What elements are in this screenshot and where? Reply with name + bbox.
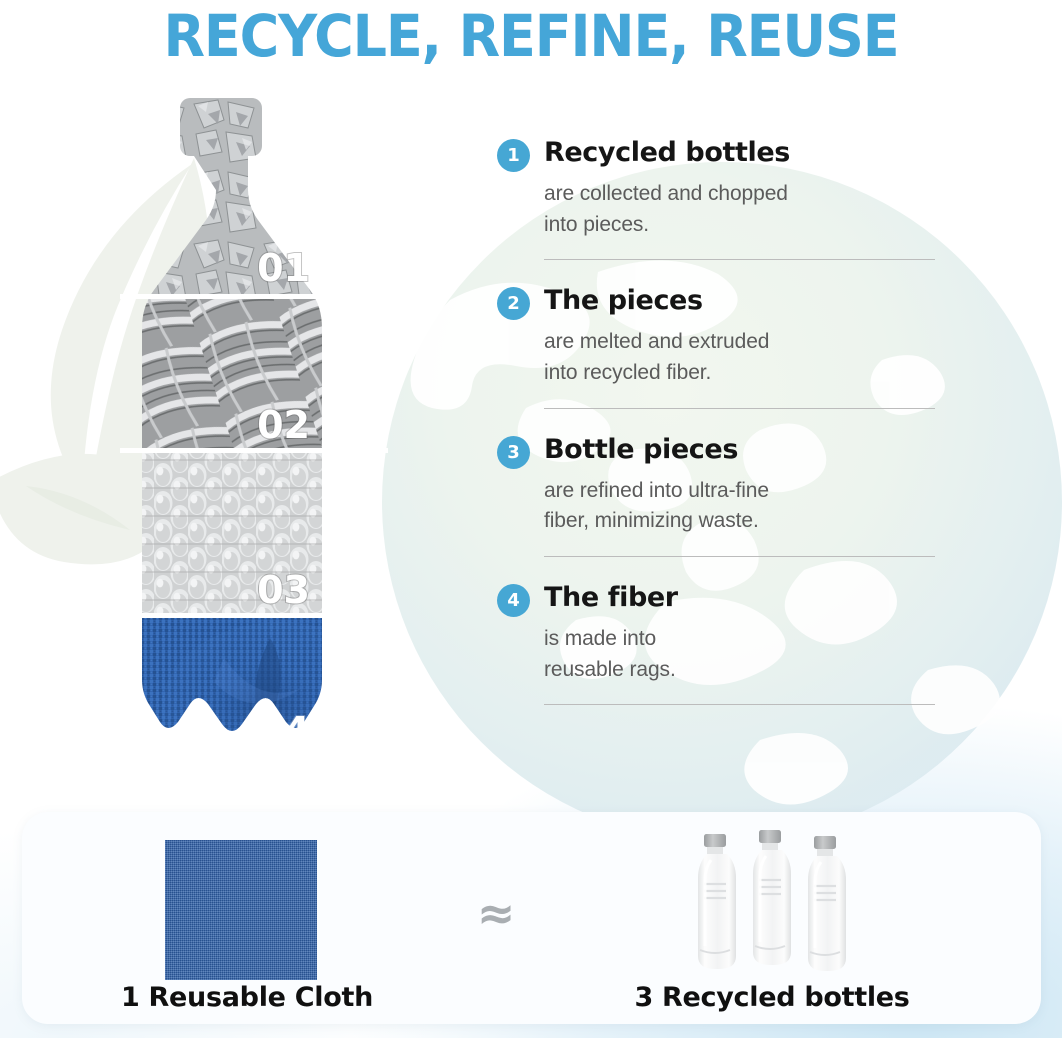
step-title-2: The pieces xyxy=(544,284,703,318)
step-divider-3 xyxy=(544,556,935,557)
step-item-1: 1 Recycled bottles are collected and cho… xyxy=(497,136,937,260)
step-body-3: are refined into ultra-fine fiber, minim… xyxy=(544,476,937,537)
step-number-badge-1: 1 xyxy=(497,139,530,172)
band-number-02: 02 xyxy=(257,403,310,447)
step-item-3: 3 Bottle pieces are refined into ultra-f… xyxy=(497,433,937,557)
step-header: 4 The fiber xyxy=(497,581,937,617)
step-item-2: 2 The pieces are melted and extruded int… xyxy=(497,284,937,408)
band-number-03: 03 xyxy=(257,568,310,612)
step-item-4: 4 The fiber is made into reusable rags. xyxy=(497,581,937,705)
band-number-04: 04 xyxy=(257,709,310,753)
bottles-caption: 3 Recycled bottles xyxy=(522,982,1022,1013)
step-title-3: Bottle pieces xyxy=(544,433,738,467)
step-title-4: The fiber xyxy=(544,581,678,615)
step-number-badge-4: 4 xyxy=(497,584,530,617)
spacer xyxy=(497,557,937,581)
step-number-badge-2: 2 xyxy=(497,287,530,320)
bottle-diagram: 01 02 03 04 xyxy=(120,98,388,788)
band-number-01: 01 xyxy=(257,246,310,290)
cloth-caption: 1 Reusable Cloth xyxy=(22,982,472,1013)
step-body-2: are melted and extruded into recycled fi… xyxy=(544,327,937,388)
step-divider-2 xyxy=(544,408,935,409)
spacer xyxy=(497,409,937,433)
step-divider-1 xyxy=(544,259,935,260)
step-divider-4 xyxy=(544,704,935,705)
step-header: 2 The pieces xyxy=(497,284,937,320)
page-title: RECYCLE, REFINE, REUSE xyxy=(37,2,1025,70)
spacer xyxy=(497,260,937,284)
infographic-page: RECYCLE, REFINE, REUSE xyxy=(0,0,1062,1038)
step-number-badge-3: 3 xyxy=(497,436,530,469)
steps-list: 1 Recycled bottles are collected and cho… xyxy=(497,136,937,705)
step-body-4: is made into reusable rags. xyxy=(544,624,937,685)
cloth-swatch xyxy=(165,840,317,980)
comparison-panel: ≈ xyxy=(22,812,1041,1024)
step-title-1: Recycled bottles xyxy=(544,136,790,170)
step-header: 1 Recycled bottles xyxy=(497,136,937,172)
step-header: 3 Bottle pieces xyxy=(497,433,937,469)
step-body-1: are collected and chopped into pieces. xyxy=(544,179,937,240)
approximately-equal-icon: ≈ xyxy=(466,890,526,936)
recycled-bottles-icon xyxy=(695,826,875,984)
